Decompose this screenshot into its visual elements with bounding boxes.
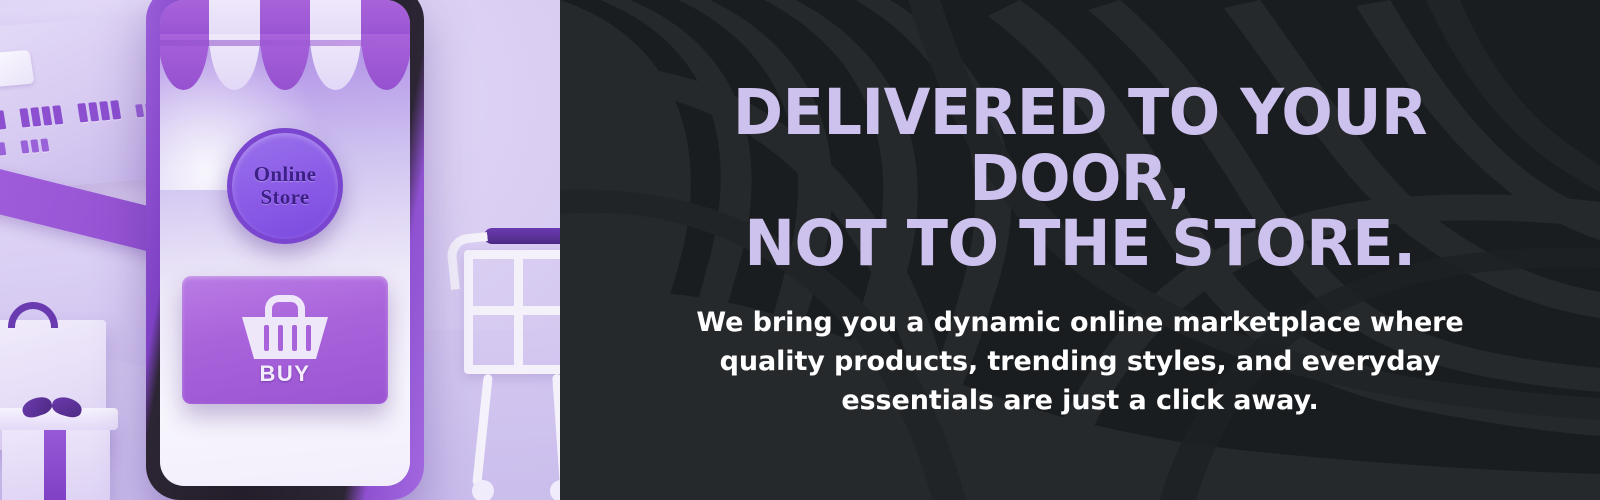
gift-ribbon (44, 424, 66, 500)
headline-line-2: NOT TO THE STORE. (627, 211, 1533, 277)
online-store-badge: Online Store (227, 128, 343, 244)
card-chip (0, 50, 35, 87)
phone-mockup: Online Store BUY (146, 0, 424, 500)
cart-top-rail (484, 228, 560, 244)
page-title: DELIVERED TO YOUR DOOR, NOT TO THE STORE… (627, 80, 1533, 277)
gift-bow (26, 396, 84, 418)
badge-line-2: Store (261, 186, 310, 209)
gift-box-icon (2, 418, 110, 500)
buy-button[interactable]: BUY (182, 276, 388, 404)
hero-product-image: Online Store BUY (0, 0, 560, 500)
promo-banner: Online Store BUY (0, 0, 1600, 500)
banner-subtext: We bring you a dynamic online marketplac… (650, 303, 1510, 420)
badge-line-1: Online (254, 163, 316, 186)
storefront-awning (160, 0, 410, 90)
headline-line-1: DELIVERED TO YOUR DOOR, (733, 76, 1427, 215)
phone-screen: Online Store BUY (160, 0, 410, 486)
shopping-cart-icon (452, 228, 560, 500)
shopping-basket-icon (242, 297, 328, 359)
banner-text-panel: DELIVERED TO YOUR DOOR, NOT TO THE STORE… (560, 0, 1600, 500)
buy-button-label: BUY (260, 361, 311, 387)
